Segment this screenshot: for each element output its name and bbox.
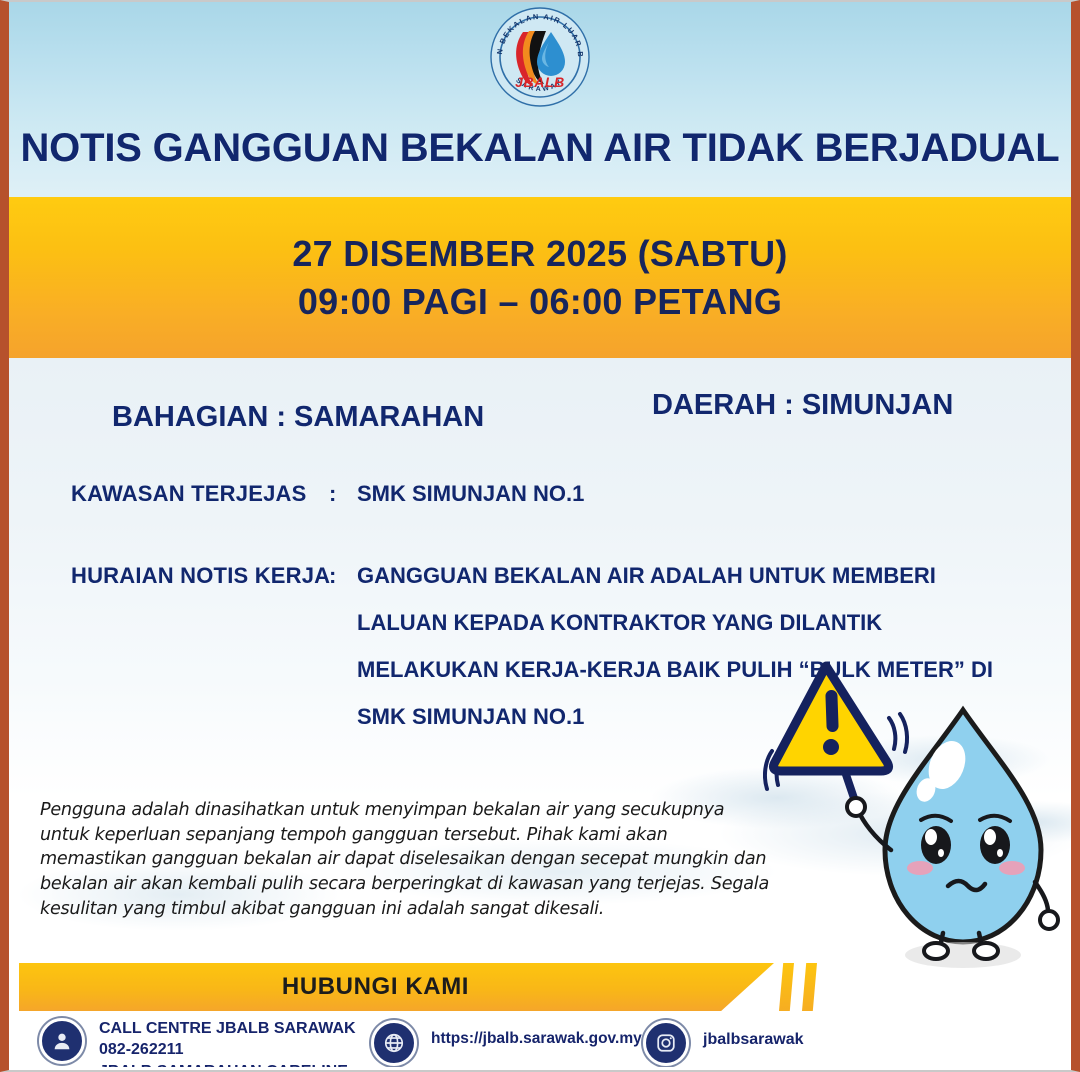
bahagian-label: BAHAGIAN : SAMARAHAN	[112, 401, 484, 434]
jbalb-sarawak-logo: JABATAN BEKALAN AIR LUAR BANDAR SARAWAK …	[489, 6, 591, 108]
contact-website[interactable]: https://jbalb.sarawak.gov.my/	[371, 1020, 646, 1066]
instagram-icon	[643, 1020, 689, 1066]
poster-body: BAHAGIAN : SAMARAHAN DAERAH : SIMUNJAN K…	[9, 358, 1071, 1067]
poster-header: JABATAN BEKALAN AIR LUAR BANDAR SARAWAK …	[9, 2, 1071, 197]
globe-icon	[371, 1020, 417, 1066]
page-title: NOTIS GANGGUAN BEKALAN AIR TIDAK BERJADU…	[9, 126, 1071, 171]
hubungi-kami-label: HUBUNGI KAMI	[282, 973, 511, 1001]
huraian-notis-kerja-label: HURAIAN NOTIS KERJA	[71, 563, 330, 589]
kawasan-line: SMK SIMUNJAN NO.1	[357, 481, 584, 507]
call-centre-name: CALL CENTRE JBALB SARAWAK	[99, 1018, 356, 1039]
instagram-text: jbalbsarawak	[703, 1029, 804, 1050]
banner-slash-decoration	[779, 963, 794, 1011]
advisory-paragraph: Pengguna adalah dinasihatkan untuk menyi…	[40, 798, 775, 921]
svg-text:JBALB: JBALB	[515, 74, 565, 90]
huraian-colon: :	[329, 563, 336, 589]
contact-list: CALL CENTRE JBALB SARAWAK 082-262211 JBA…	[9, 1018, 1071, 1067]
notice-date: 27 DISEMBER 2025 (SABTU)	[292, 233, 787, 275]
daerah-label: DAERAH : SIMUNJAN	[652, 389, 953, 422]
banner-slash-decoration	[802, 963, 817, 1011]
date-time-band: 27 DISEMBER 2025 (SABTU) 09:00 PAGI – 06…	[9, 197, 1071, 358]
contact-call-centre[interactable]: CALL CENTRE JBALB SARAWAK 082-262211 JBA…	[39, 1018, 356, 1067]
instagram-handle: jbalbsarawak	[703, 1029, 804, 1050]
website-url: https://jbalb.sarawak.gov.my/	[431, 1029, 646, 1050]
notice-time: 09:00 PAGI – 06:00 PETANG	[298, 281, 782, 323]
kawasan-colon: :	[329, 481, 336, 507]
website-text: https://jbalb.sarawak.gov.my/	[431, 1029, 646, 1050]
huraian-line: GANGGUAN BEKALAN AIR ADALAH UNTUK MEMBER…	[357, 563, 993, 589]
person-icon	[39, 1018, 85, 1064]
warning-triangle-sign	[773, 666, 888, 771]
water-disruption-notice-poster: JABATAN BEKALAN AIR LUAR BANDAR SARAWAK …	[0, 0, 1080, 1072]
careline-name: JBALB SAMARAHAN CARELINE	[99, 1061, 356, 1067]
water-droplet-mascot	[763, 650, 1071, 995]
contact-instagram[interactable]: jbalbsarawak	[643, 1020, 804, 1066]
contact-banner-wrap: HUBUNGI KAMI	[9, 963, 1071, 1013]
huraian-line: LALUAN KEPADA KONTRAKTOR YANG DILANTIK	[357, 610, 993, 636]
region-row: BAHAGIAN : SAMARAHAN DAERAH : SIMUNJAN	[9, 401, 1071, 441]
hubungi-kami-banner: HUBUNGI KAMI	[19, 963, 774, 1011]
call-centre-text: CALL CENTRE JBALB SARAWAK 082-262211 JBA…	[99, 1018, 356, 1067]
call-centre-number: 082-262211	[99, 1039, 356, 1060]
kawasan-terjejas-label: KAWASAN TERJEJAS	[71, 481, 306, 507]
kawasan-terjejas-value: SMK SIMUNJAN NO.1	[357, 481, 584, 528]
